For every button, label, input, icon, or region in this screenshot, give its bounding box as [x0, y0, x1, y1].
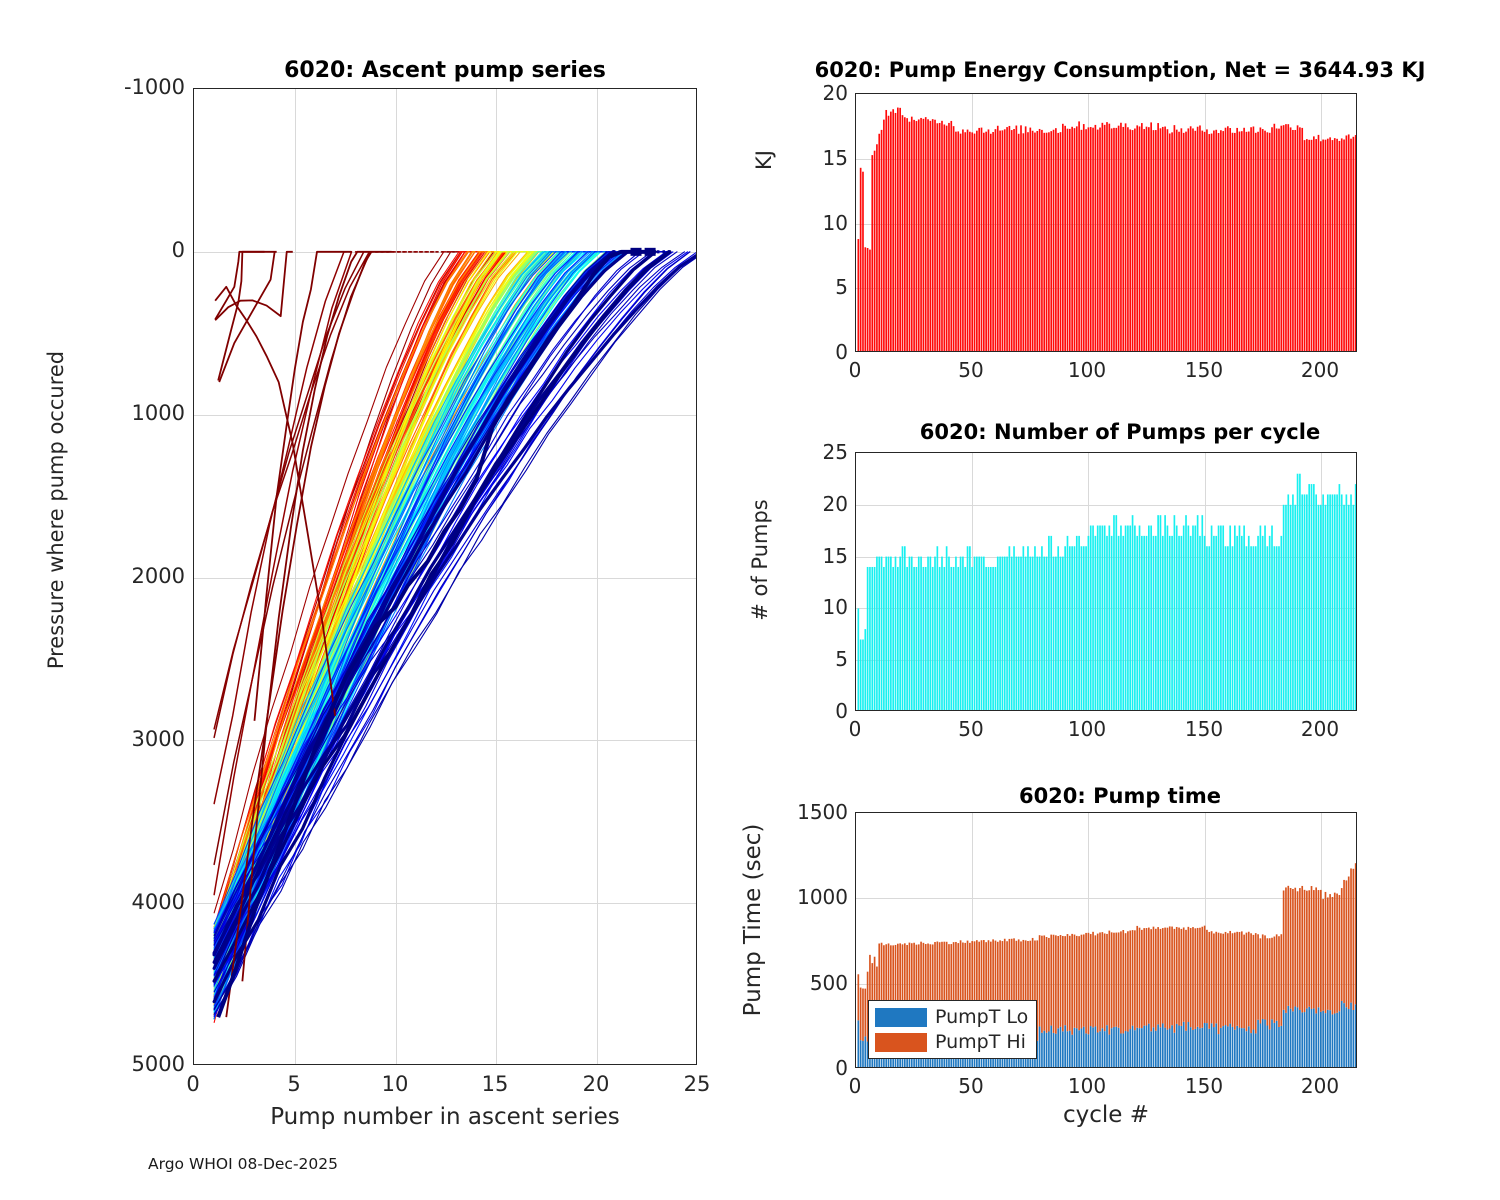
pumps-xtick: 200 — [1290, 717, 1350, 741]
energy-xtick: 100 — [1057, 358, 1117, 382]
legend-label-pumpt-lo: PumpT Lo — [935, 1006, 1028, 1028]
pumptime-yaxis-label: Pump Time (sec) — [740, 770, 766, 1070]
pumptime-chart-title: 6020: Pump time — [760, 784, 1480, 808]
pumps-ytick: 25 — [770, 440, 848, 464]
pumps-per-cycle-panel: 6020: Number of Pumps per cycle 25 20 15… — [740, 400, 1500, 770]
ascent-ytick: 3000 — [63, 727, 185, 751]
ascent-ytick: 4000 — [63, 890, 185, 914]
pumptime-xtick: 100 — [1057, 1074, 1117, 1098]
ascent-yaxis-label: Pressure where pump occured — [44, 260, 68, 760]
ascent-axes — [193, 88, 697, 1065]
energy-chart-title: 6020: Pump Energy Consumption, Net = 364… — [760, 58, 1480, 82]
energy-ytick: 20 — [770, 81, 848, 105]
ascent-xtick: 5 — [264, 1072, 324, 1096]
ascent-xaxis-label: Pump number in ascent series — [193, 1104, 697, 1130]
energy-yaxis-label: KJ — [752, 60, 776, 260]
footer-credit: Argo WHOI 08-Dec-2025 — [148, 1155, 338, 1173]
pumps-ytick: 20 — [770, 492, 848, 516]
energy-ytick: 10 — [770, 211, 848, 235]
ascent-xtick: 15 — [465, 1072, 525, 1096]
pumps-chart-title: 6020: Number of Pumps per cycle — [760, 420, 1480, 444]
energy-ytick: 15 — [770, 146, 848, 170]
ascent-ytick: 1000 — [63, 401, 185, 425]
pumps-xtick: 100 — [1057, 717, 1117, 741]
pumps-xtick: 150 — [1174, 717, 1234, 741]
energy-xtick: 0 — [825, 358, 885, 382]
pumptime-xtick: 50 — [941, 1074, 1001, 1098]
pumps-ytick: 5 — [770, 647, 848, 671]
ascent-xtick: 25 — [667, 1072, 727, 1096]
legend-swatch-pumpt-hi — [875, 1033, 927, 1052]
ascent-chart-title: 6020: Ascent pump series — [193, 58, 697, 83]
pumptime-xtick: 0 — [825, 1074, 885, 1098]
pumps-axes — [855, 452, 1357, 711]
ascent-xtick: 0 — [163, 1072, 223, 1096]
pumps-bar-plot — [856, 453, 1357, 711]
pumps-ytick: 15 — [770, 544, 848, 568]
pumps-xtick: 50 — [941, 717, 1001, 741]
ascent-pump-series-panel: 6020: Ascent pump series -1000 0 1000 20… — [0, 0, 740, 1200]
legend-swatch-pumpt-lo — [875, 1008, 927, 1027]
pumptime-xtick: 150 — [1174, 1074, 1234, 1098]
energy-axes — [855, 93, 1357, 352]
pumptime-xtick: 200 — [1290, 1074, 1350, 1098]
energy-xtick: 150 — [1174, 358, 1234, 382]
ascent-series-plot — [194, 89, 697, 1065]
energy-xtick: 50 — [941, 358, 1001, 382]
pumps-ytick: 10 — [770, 595, 848, 619]
energy-bar-plot — [856, 94, 1357, 352]
pump-energy-panel: 6020: Pump Energy Consumption, Net = 364… — [740, 0, 1500, 400]
ascent-ytick: 2000 — [63, 564, 185, 588]
pumptime-xaxis-label: cycle # — [855, 1102, 1357, 1128]
pumps-yaxis-label: # of Pumps — [748, 435, 772, 685]
ascent-ytick: -1000 — [63, 75, 185, 99]
pump-time-panel: 6020: Pump time PumpT Lo PumpT Hi 1500 1… — [740, 770, 1500, 1200]
pumptime-legend[interactable]: PumpT Lo PumpT Hi — [868, 1000, 1037, 1059]
ascent-ytick: 0 — [63, 238, 185, 262]
legend-item-pumpt-lo[interactable]: PumpT Lo — [875, 1006, 1028, 1028]
legend-label-pumpt-hi: PumpT Hi — [935, 1031, 1026, 1053]
energy-xtick: 200 — [1290, 358, 1350, 382]
energy-ytick: 5 — [770, 275, 848, 299]
ascent-xtick: 20 — [566, 1072, 626, 1096]
pumps-xtick: 0 — [825, 717, 885, 741]
legend-item-pumpt-hi[interactable]: PumpT Hi — [875, 1031, 1028, 1053]
ascent-xtick: 10 — [365, 1072, 425, 1096]
